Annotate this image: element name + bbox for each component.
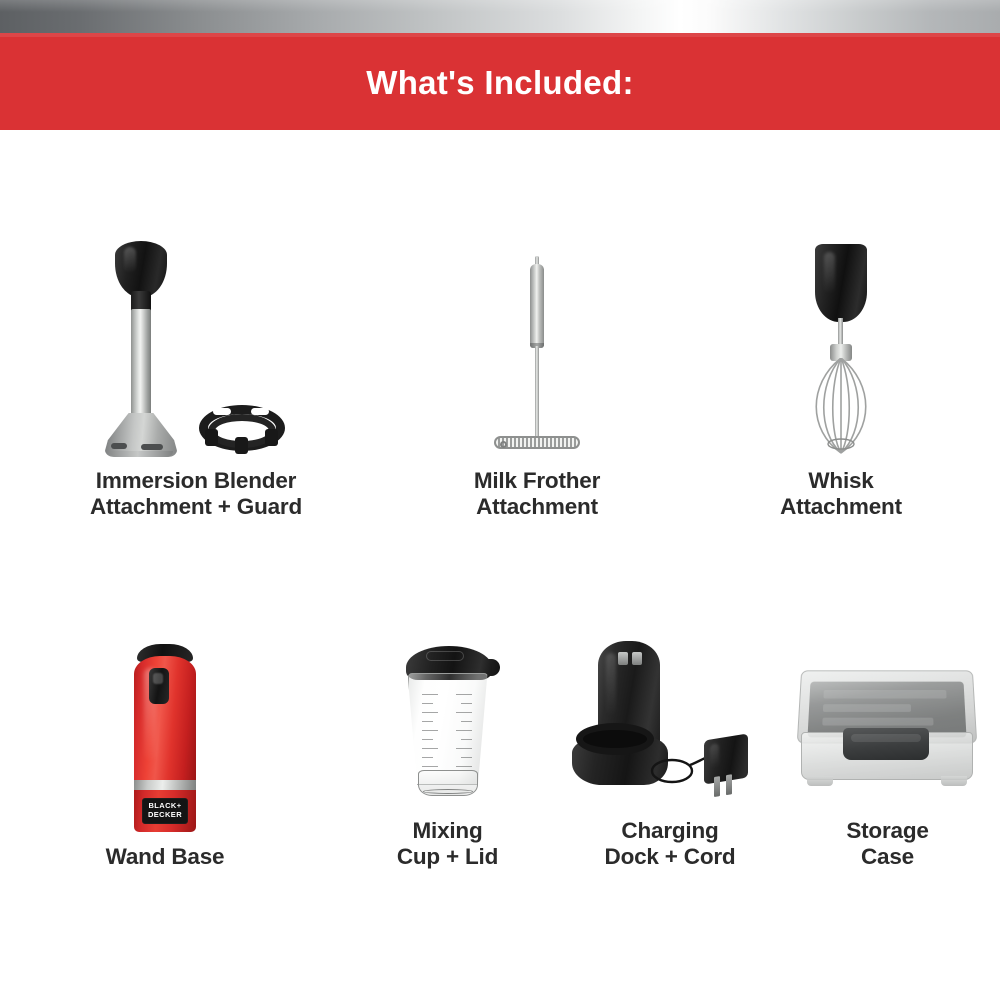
mixing-cup-image (388, 646, 508, 806)
blender-housing-slot (141, 444, 163, 450)
guard-notch (213, 408, 231, 415)
logo-line-2: DECKER (148, 811, 182, 820)
product-item-milk-frother: Milk Frother Attachment (392, 215, 682, 520)
product-caption: Wand Base (106, 844, 225, 870)
immersion-blender-image (91, 241, 301, 456)
charging-dock-image (570, 641, 770, 806)
chrome-gradient-bar (0, 0, 1000, 33)
storage-case-image (793, 666, 983, 806)
guard-tab (205, 429, 218, 446)
blender-guard-ring-shape (199, 399, 285, 457)
frother-rod-shape (535, 346, 539, 439)
dock-charging-pins (618, 652, 642, 665)
product-row-bottom: BLACK+ DECKER Wand Base (0, 550, 1000, 870)
wand-power-button-shape (149, 668, 169, 704)
dock-well-shape (576, 723, 654, 755)
product-caption: Whisk Attachment (780, 468, 902, 520)
cup-measurement-marks (422, 694, 474, 768)
dock-pin (618, 652, 628, 665)
guard-tab (235, 437, 248, 454)
black-decker-logo: BLACK+ DECKER (142, 798, 188, 824)
header-banner: What's Included: (0, 33, 1000, 130)
wand-base-image: BLACK+ DECKER (119, 644, 211, 832)
product-row-top: Immersion Blender Attachment + Guard Mil… (0, 215, 1000, 520)
blender-shaft-shape (131, 309, 151, 419)
guard-notch (251, 408, 269, 415)
product-item-wand-base: BLACK+ DECKER Wand Base (0, 550, 330, 870)
product-caption: Milk Frother Attachment (474, 468, 600, 520)
blender-motor-cap-shape (115, 241, 167, 297)
case-foot (807, 776, 833, 786)
dock-pin (632, 652, 642, 665)
product-caption: Storage Case (846, 818, 928, 870)
product-caption: Charging Dock + Cord (605, 818, 736, 870)
guard-tab (265, 429, 278, 446)
cup-base-ring-shape (418, 770, 478, 796)
frother-collar-shape (530, 264, 544, 348)
whisk-balloon-wires (806, 358, 876, 455)
products-content: Immersion Blender Attachment + Guard Mil… (0, 130, 1000, 1000)
product-caption: Mixing Cup + Lid (397, 818, 498, 870)
product-item-charging-dock: Charging Dock + Cord (565, 550, 775, 870)
blender-housing-slot (111, 443, 127, 449)
milk-frother-image (477, 256, 597, 456)
blender-housing-foot (109, 451, 173, 457)
case-handle-shape (843, 728, 929, 760)
adapter-prong (714, 776, 720, 797)
case-feet (807, 776, 967, 786)
frother-coil-whisk-shape (494, 436, 580, 449)
page-title: What's Included: (366, 66, 633, 99)
product-item-storage-case: Storage Case (775, 550, 1000, 870)
product-caption: Immersion Blender Attachment + Guard (90, 468, 302, 520)
whisk-image (786, 244, 896, 456)
dock-power-cord (646, 747, 708, 787)
adapter-prongs (714, 773, 740, 797)
product-item-mixing-cup: Mixing Cup + Lid (330, 550, 565, 870)
whisk-motor-cup-shape (815, 244, 867, 322)
product-item-immersion-blender: Immersion Blender Attachment + Guard (0, 215, 392, 520)
case-foot (941, 776, 967, 786)
product-item-whisk: Whisk Attachment (682, 215, 1000, 520)
adapter-prong (726, 774, 732, 795)
